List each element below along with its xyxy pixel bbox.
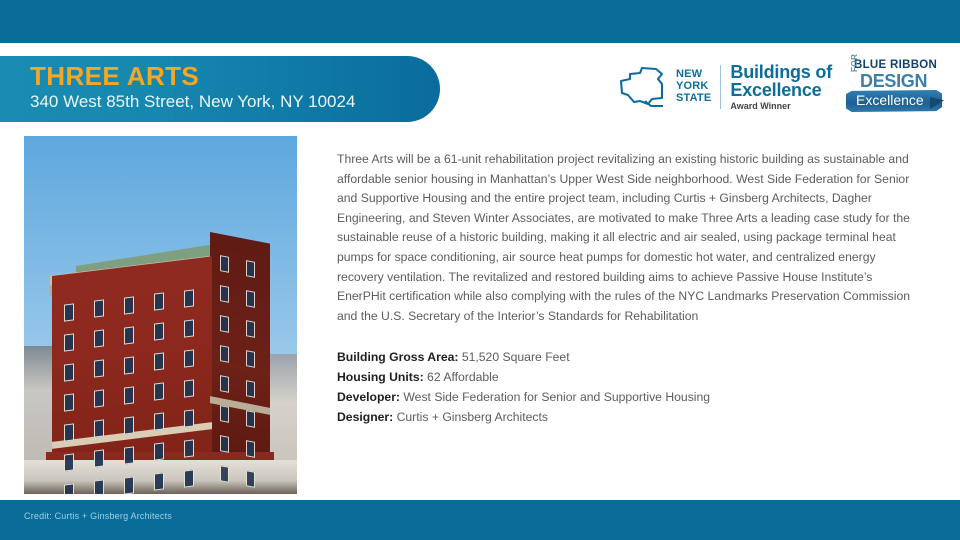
- building-window: [94, 330, 104, 348]
- ny-line-3: STATE: [676, 93, 711, 104]
- project-fact-label: Designer:: [337, 410, 393, 424]
- blue-ribbon-excellence-label: Excellence: [856, 92, 924, 108]
- page-title: THREE ARTS: [30, 61, 440, 91]
- building-window: [124, 296, 134, 314]
- building-window: [124, 326, 134, 344]
- building-window: [246, 320, 255, 338]
- building-window: [184, 469, 194, 487]
- building-window: [246, 260, 255, 278]
- building-window: [220, 315, 229, 333]
- boe-award-winner-label: Award Winner: [730, 102, 832, 111]
- buildings-of-excellence-logo: NEW YORK STATE Buildings of Excellence A…: [618, 63, 832, 112]
- building-window: [184, 319, 194, 337]
- building-window: [184, 289, 194, 307]
- ribbon-banner-shape: Excellence: [846, 90, 942, 112]
- building-window: [94, 390, 104, 408]
- blue-ribbon-design-label: DESIGN: [860, 71, 927, 92]
- building-window: [184, 349, 194, 367]
- building-window: [94, 420, 104, 438]
- boe-line-1: Buildings of: [730, 63, 832, 81]
- building-window: [94, 450, 104, 468]
- building-window: [64, 303, 74, 321]
- building-window: [64, 333, 74, 351]
- image-credit: Credit: Curtis + Ginsberg Architects: [24, 511, 172, 521]
- ny-line-2: YORK: [676, 81, 711, 92]
- project-fact-value: 62 Affordable: [424, 370, 499, 384]
- building-window: [64, 483, 74, 494]
- buildings-of-excellence-wordmark: Buildings of Excellence Award Winner: [730, 63, 832, 112]
- new-york-state-outline-icon: [618, 65, 672, 109]
- building-window: [64, 423, 74, 441]
- building-window: [184, 439, 194, 457]
- building-window: [154, 353, 164, 371]
- ny-line-1: NEW: [676, 69, 711, 80]
- description-column: Three Arts will be a 61-unit rehabilitat…: [337, 150, 915, 428]
- building-window: [154, 443, 164, 461]
- building-window: [220, 345, 229, 363]
- slide: THREE ARTS 340 West 85th Street, New Yor…: [0, 0, 960, 540]
- building-window: [246, 410, 255, 428]
- project-fact-row: Designer: Curtis + Ginsberg Architects: [337, 408, 915, 428]
- blue-ribbon-for-label: FOR: [850, 54, 859, 72]
- project-fact-row: Housing Units: 62 Affordable: [337, 368, 915, 388]
- project-facts-list: Building Gross Area: 51,520 Square FeetH…: [337, 348, 915, 427]
- boe-line-2: Excellence: [730, 81, 832, 99]
- building-window: [246, 380, 255, 398]
- building-window: [124, 476, 134, 494]
- project-fact-value: Curtis + Ginsberg Architects: [393, 410, 548, 424]
- top-banner-bar: [0, 0, 960, 43]
- building-window: [220, 405, 229, 423]
- project-fact-row: Building Gross Area: 51,520 Square Feet: [337, 348, 915, 368]
- new-york-state-wordmark: NEW YORK STATE: [676, 69, 711, 105]
- project-fact-label: Developer:: [337, 390, 400, 404]
- new-york-state-logo: NEW YORK STATE: [618, 65, 711, 109]
- building-window: [246, 440, 255, 458]
- building-window: [246, 290, 255, 308]
- building-window: [246, 350, 255, 368]
- building-window: [124, 356, 134, 374]
- building-window: [154, 413, 164, 431]
- building-window: [184, 379, 194, 397]
- project-address: 340 West 85th Street, New York, NY 10024: [30, 91, 440, 113]
- project-fact-value: 51,520 Square Feet: [458, 350, 569, 364]
- building-window: [94, 480, 104, 494]
- project-fact-label: Housing Units:: [337, 370, 424, 384]
- building-window: [246, 470, 255, 488]
- building-window: [124, 386, 134, 404]
- building-window: [154, 473, 164, 491]
- building-window: [220, 285, 229, 303]
- building-window: [220, 435, 229, 453]
- logo-group: NEW YORK STATE Buildings of Excellence A…: [618, 57, 942, 117]
- building-window: [94, 300, 104, 318]
- blue-ribbon-design-excellence-logo: BLUE RIBBON FOR DESIGN Excellence: [846, 57, 942, 117]
- building-window: [64, 393, 74, 411]
- project-fact-value: West Side Federation for Senior and Supp…: [400, 390, 710, 404]
- building-window: [124, 416, 134, 434]
- building-window: [94, 360, 104, 378]
- project-fact-label: Building Gross Area:: [337, 350, 458, 364]
- logo-divider: [720, 65, 721, 109]
- building-rendering-image: [24, 136, 297, 494]
- project-fact-row: Developer: West Side Federation for Seni…: [337, 388, 915, 408]
- building-window: [220, 375, 229, 393]
- building-window: [64, 453, 74, 471]
- bottom-banner-bar: Credit: Curtis + Ginsberg Architects: [0, 500, 960, 540]
- building-window: [64, 363, 74, 381]
- building-window: [154, 383, 164, 401]
- building-window: [154, 293, 164, 311]
- project-description: Three Arts will be a 61-unit rehabilitat…: [337, 150, 915, 326]
- building-window: [154, 323, 164, 341]
- building-window: [184, 409, 194, 427]
- building-window: [220, 255, 229, 273]
- building-window: [220, 465, 229, 483]
- project-header-pill: THREE ARTS 340 West 85th Street, New Yor…: [0, 56, 440, 122]
- building-window: [124, 446, 134, 464]
- blue-ribbon-line-1: BLUE RIBBON: [854, 59, 937, 71]
